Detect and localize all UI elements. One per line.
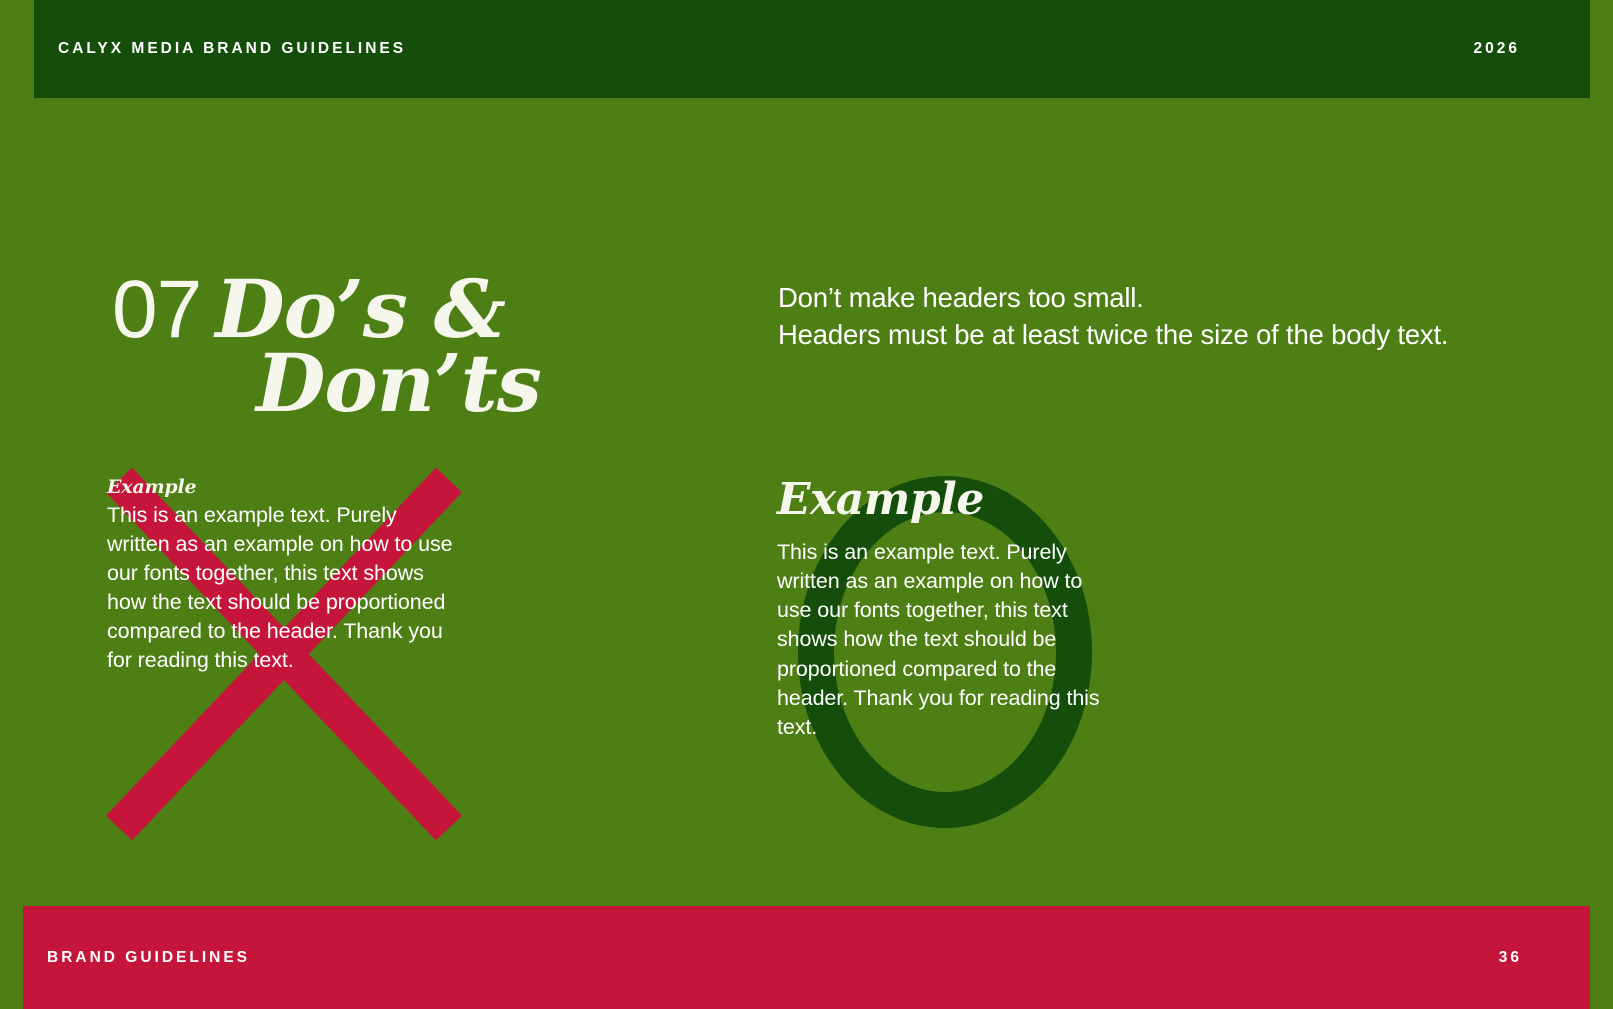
header-year: 2026 <box>1474 40 1520 58</box>
bad-example-heading: Example <box>107 476 457 499</box>
slide-footer-bar: BRAND GUIDELINES 36 <box>23 906 1590 1009</box>
good-example-heading: Example <box>777 478 1122 522</box>
guidance-line-1: Don’t make headers too small. <box>778 280 1558 317</box>
good-example-panel: Example This is an example text. Purely … <box>777 466 1122 836</box>
slide-canvas: CALYX MEDIA BRAND GUIDELINES 2026 07Do’s… <box>0 0 1613 1009</box>
slide-header-bar: CALYX MEDIA BRAND GUIDELINES 2026 <box>34 0 1590 98</box>
section-title-word-2: Don’ts <box>256 336 541 430</box>
guidance-line-2: Headers must be at least twice the size … <box>778 317 1558 354</box>
bad-example-body: This is an example text. Purely written … <box>107 501 457 676</box>
bad-example-panel: Example This is an example text. Purely … <box>107 466 457 836</box>
good-example-content: Example This is an example text. Purely … <box>777 478 1122 742</box>
section-title: 07Do’s & Don’ts <box>112 272 672 421</box>
good-example-body: This is an example text. Purely written … <box>777 538 1122 742</box>
header-title: CALYX MEDIA BRAND GUIDELINES <box>58 40 406 58</box>
bad-example-content: Example This is an example text. Purely … <box>107 476 457 676</box>
footer-page-number: 36 <box>1499 949 1522 967</box>
footer-label: BRAND GUIDELINES <box>47 949 250 967</box>
guidance-text: Don’t make headers too small. Headers mu… <box>778 280 1558 353</box>
section-number: 07 <box>112 264 201 355</box>
section-title-line-2: Don’ts <box>112 347 672 421</box>
